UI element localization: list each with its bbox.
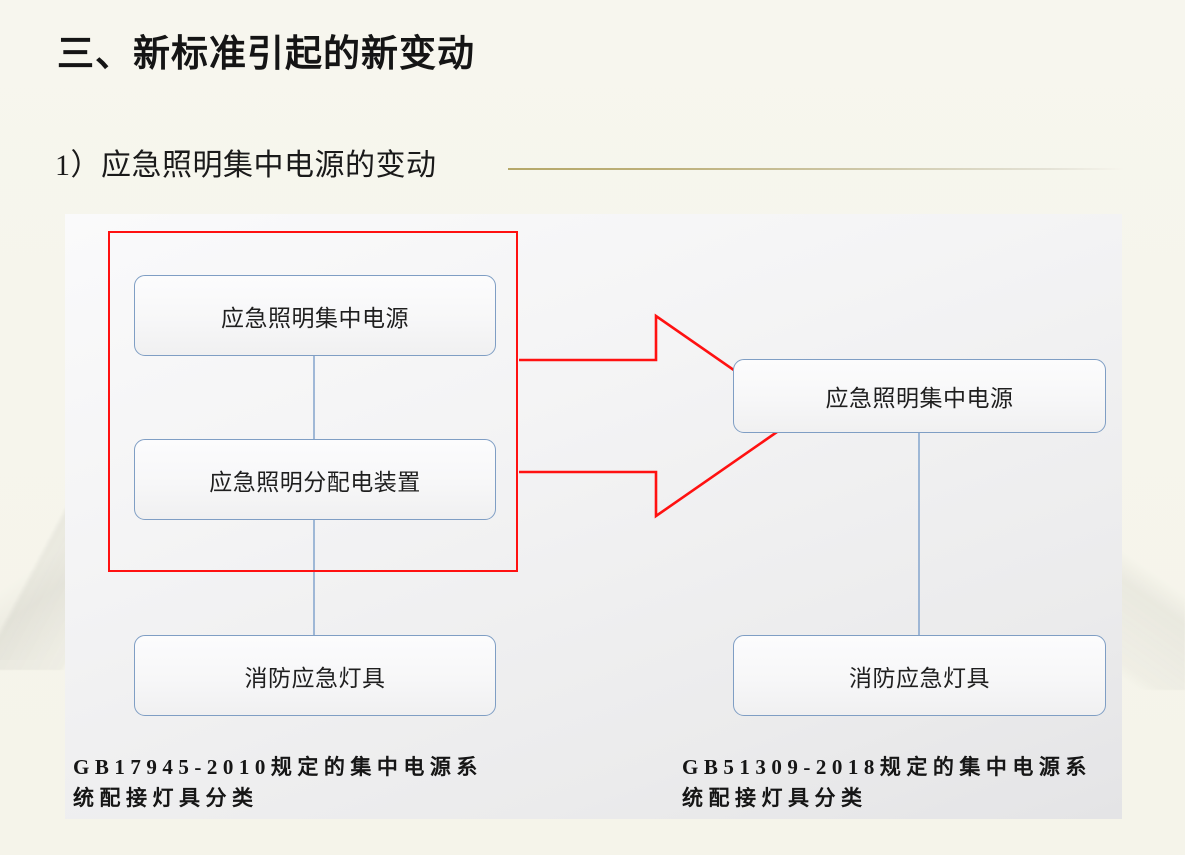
flow-box-left-3-label: 消防应急灯具 bbox=[245, 659, 386, 693]
flow-box-right-2-label: 消防应急灯具 bbox=[849, 659, 990, 693]
diagram-panel: 应急照明集中电源 应急照明分配电装置 消防应急灯具 应急照明集中电源 消防应急灯… bbox=[65, 214, 1122, 819]
caption-right: GB51309-2018规定的集中电源系统配接灯具分类 bbox=[682, 752, 1112, 814]
flow-box-left-3[interactable]: 消防应急灯具 bbox=[134, 635, 496, 716]
flow-box-right-1-label: 应急照明集中电源 bbox=[826, 379, 1014, 413]
subtitle-divider-rule bbox=[508, 168, 1123, 170]
flow-box-left-2-label: 应急照明分配电装置 bbox=[209, 463, 421, 497]
section-subtitle: 1）应急照明集中电源的变动 bbox=[55, 140, 437, 184]
flow-box-left-1[interactable]: 应急照明集中电源 bbox=[134, 275, 496, 356]
caption-left: GB17945-2010规定的集中电源系统配接灯具分类 bbox=[73, 752, 503, 814]
flow-box-right-2[interactable]: 消防应急灯具 bbox=[733, 635, 1106, 716]
flow-box-right-1[interactable]: 应急照明集中电源 bbox=[733, 359, 1106, 433]
page-title: 三、新标准引起的新变动 bbox=[57, 23, 475, 77]
flow-box-left-2[interactable]: 应急照明分配电装置 bbox=[134, 439, 496, 520]
flow-box-left-1-label: 应急照明集中电源 bbox=[221, 299, 409, 333]
